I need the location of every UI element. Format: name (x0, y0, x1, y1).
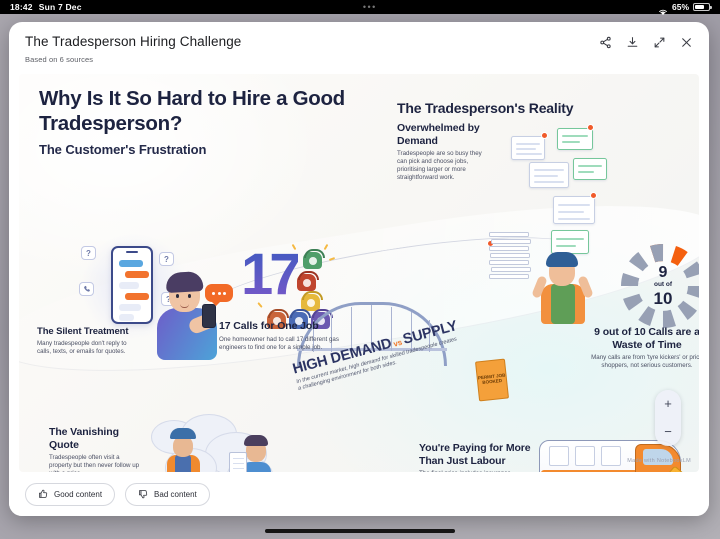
block-silent-heading: The Silent Treatment (37, 326, 133, 337)
left-column-heading: The Customer's Frustration (39, 142, 206, 157)
notification-badge-3 (590, 192, 597, 199)
van-panel-1 (549, 446, 569, 466)
high-demand-vs: vs (392, 338, 403, 349)
bad-content-label: Bad content (154, 490, 197, 499)
tablet-screen: 18:42 Sun 7 Dec ••• 65% The Tra (0, 0, 720, 539)
good-content-button[interactable]: Good content (25, 483, 115, 506)
van-panel-3 (601, 446, 621, 466)
bad-content-button[interactable]: Bad content (125, 483, 210, 506)
stat-17: 17 (241, 246, 298, 304)
donut-value-bottom: 10 (654, 290, 673, 307)
donut-chart-9-of-10: 9 out of 10 (617, 240, 699, 332)
thumbs-up-icon (38, 489, 48, 499)
frustrated-customer-illustration (155, 264, 227, 356)
share-icon[interactable] (599, 36, 612, 49)
block-vanishing-quote: The Vanishing Quote Tradespeople often v… (49, 426, 143, 472)
block-17-calls: 17 Calls for One Job One homeowner had t… (219, 320, 343, 352)
block-more-than-labour: You're Paying for More Than Just Labour … (419, 442, 531, 472)
question-bubble-1: ? (81, 246, 96, 260)
block-waste-of-time: 9 out of 10 Calls are a Waste of Time Ma… (584, 326, 699, 370)
block-waste-body: Many calls are from 'tyre kickers' or pr… (584, 354, 699, 370)
watermark-label: Made with NotebookLM (627, 458, 691, 464)
download-icon[interactable] (626, 36, 639, 49)
page-title: The Tradesperson Hiring Challenge (25, 34, 241, 50)
battery-percent: 65% (672, 2, 689, 12)
expand-icon[interactable] (653, 36, 666, 49)
vanishing-quote-illustration (139, 414, 299, 472)
overwhelmed-illustration (487, 122, 615, 322)
notification-badge-2 (587, 124, 594, 131)
block-overwhelmed-body: Tradespeople are so busy they can pick a… (397, 150, 489, 182)
block-vanishing-heading: The Vanishing Quote (49, 426, 143, 451)
van-panel-2 (575, 446, 595, 466)
chat-bubble-icon (205, 284, 233, 302)
status-time: 18:42 (10, 2, 33, 12)
zoom-out-button[interactable]: − (664, 427, 672, 437)
infographic-main-title: Why Is It So Hard to Hire a Good Tradesp… (39, 86, 359, 136)
phone-call-bubble (79, 282, 94, 296)
close-icon[interactable] (680, 36, 693, 49)
block-silent-treatment: The Silent Treatment Many tradespeople d… (37, 326, 133, 356)
overwhelmed-person (535, 250, 591, 322)
block-labour-heading: You're Paying for More Than Just Labour (419, 442, 531, 467)
block-17-heading: 17 Calls for One Job (219, 320, 343, 333)
zoom-in-button[interactable]: + (664, 399, 672, 409)
donut-value-top: 9 (659, 265, 668, 281)
status-bar-center: ••• (82, 3, 658, 11)
card-header: The Tradesperson Hiring Challenge Based … (9, 22, 709, 64)
block-17-body: One homeowner had to call 17 different g… (219, 336, 343, 352)
thumbs-down-icon (138, 489, 148, 499)
tradesperson-figure (161, 428, 207, 472)
zoom-controls[interactable]: + − (655, 390, 681, 446)
artifact-card: The Tradesperson Hiring Challenge Based … (9, 22, 709, 516)
block-vanishing-body: Tradespeople often visit a property but … (49, 454, 143, 472)
block-overwhelmed: Overwhelmed by Demand Tradespeople are s… (397, 122, 489, 182)
source-count-label: Based on 6 sources (25, 55, 241, 64)
block-silent-body: Many tradespeople don't reply to calls, … (37, 340, 133, 356)
wifi-icon (658, 3, 668, 11)
feedback-bar: Good content Bad content (9, 472, 709, 516)
header-actions (599, 34, 693, 49)
battery-icon (693, 3, 710, 11)
status-date: Sun 7 Dec (39, 2, 82, 12)
dynamic-island-dots: ••• (363, 3, 377, 11)
block-waste-heading: 9 out of 10 Calls are a Waste of Time (584, 326, 699, 351)
smartphone-illustration (111, 246, 153, 324)
paper-stack (489, 232, 529, 284)
notification-badge-1 (541, 132, 548, 139)
permit-card-illustration: PERMIT JOB BOOKED (475, 359, 509, 402)
block-overwhelmed-heading: Overwhelmed by Demand (397, 122, 489, 147)
donut-center-label: 9 out of 10 (617, 240, 699, 332)
block-labour-body: The final price includes insurance, vehi… (419, 470, 531, 472)
status-bar: 18:42 Sun 7 Dec ••• 65% (0, 0, 720, 14)
status-bar-right: 65% (658, 2, 720, 12)
infographic-canvas: Why Is It So Hard to Hire a Good Tradesp… (19, 74, 699, 472)
home-indicator (265, 529, 455, 533)
donut-value-mid: out of (654, 282, 672, 289)
good-content-label: Good content (54, 490, 102, 499)
right-column-heading: The Tradesperson's Reality (397, 100, 573, 116)
infographic-viewport[interactable]: Why Is It So Hard to Hire a Good Tradesp… (19, 74, 699, 472)
homeowner-figure (235, 434, 277, 472)
status-bar-left: 18:42 Sun 7 Dec (0, 2, 82, 12)
